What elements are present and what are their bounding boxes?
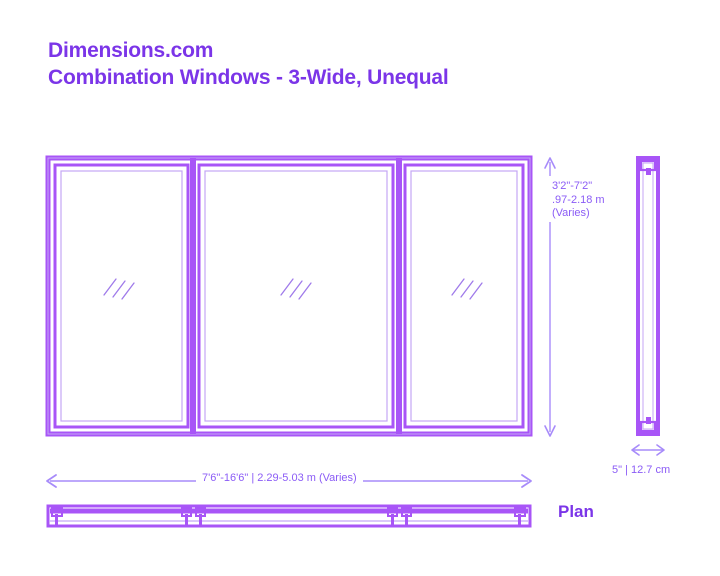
center-panel-glass-outline xyxy=(205,171,387,421)
left-panel-glass-outline xyxy=(61,171,182,421)
height-metric: .97-2.18 m xyxy=(552,194,605,208)
plan-right-jamb-stop xyxy=(518,514,521,525)
plan-left-jamb-stop xyxy=(55,514,58,525)
elevation-outer-frame-highlight xyxy=(48,158,530,434)
left-panel-glass-hatch-icon xyxy=(104,279,134,299)
plan-mullion-2-stop-a xyxy=(391,514,394,527)
height-dimension-label: 3'2"-7'2" .97-2.18 m (Varies) xyxy=(552,180,605,221)
section-outer-profile xyxy=(638,158,658,434)
height-varies-note: (Varies) xyxy=(552,207,605,221)
elevation-view xyxy=(48,158,530,434)
height-imperial: 3'2"-7'2" xyxy=(552,180,605,194)
depth-dimension xyxy=(632,445,664,455)
right-panel-glass-outline xyxy=(411,171,517,421)
elevation-left-panel xyxy=(55,165,188,427)
width-dimension-label: 7'6"-16'6" | 2.29-5.03 m (Varies) xyxy=(196,472,363,485)
section-head-stop xyxy=(646,168,651,175)
depth-dimension-label: 5" | 12.7 cm xyxy=(612,464,670,477)
mullion-1 xyxy=(190,158,196,434)
side-section-view xyxy=(638,158,658,434)
plan-view xyxy=(48,506,530,527)
plan-mullion-2-stop-b xyxy=(405,514,408,527)
elevation-right-panel xyxy=(405,165,523,427)
elevation-outer-frame xyxy=(48,158,530,434)
elevation-center-panel xyxy=(199,165,393,427)
mullion-2 xyxy=(396,158,402,434)
plan-mullion-1-stop-a xyxy=(185,514,188,527)
plan-view-label: Plan xyxy=(558,505,594,518)
plan-mullion-1-stop-b xyxy=(199,514,202,527)
drawing-canvas: Dimensions.com Combination Windows - 3-W… xyxy=(0,0,720,576)
section-inner-profile xyxy=(643,163,653,429)
right-panel-glass-hatch-icon xyxy=(452,279,482,299)
center-panel-sash xyxy=(199,165,393,427)
technical-drawing xyxy=(0,0,720,576)
section-sill-stop xyxy=(646,417,651,424)
right-panel-sash xyxy=(405,165,523,427)
center-panel-glass-hatch-icon xyxy=(281,279,311,299)
left-panel-sash xyxy=(55,165,188,427)
